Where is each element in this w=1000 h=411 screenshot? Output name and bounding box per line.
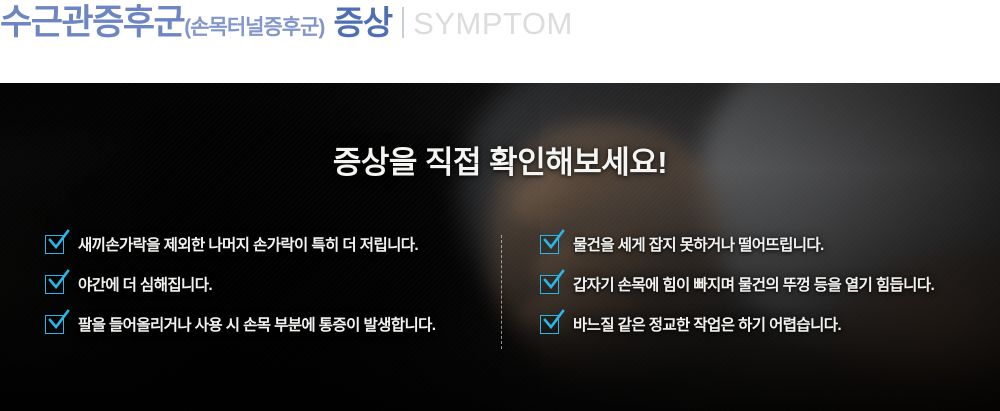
title-sub-text: 증상 [333,4,392,41]
list-item-label: 야간에 더 심해집니다. [78,273,212,295]
list-item-label: 팔을 들어올리거나 사용 시 손목 부분에 통증이 발생합니다. [78,313,436,335]
title-english-text: SYMPTOM [413,6,573,41]
list-item: 바느질 같은 정교한 작업은 하기 어렵습니다. [540,311,995,337]
list-item: 팔을 들어올리거나 사용 시 손목 부분에 통증이 발생합니다. [45,311,495,337]
page-title: 수근관증후군(손목터널증후군)증상SYMPTOM [0,1,573,52]
list-item: 야간에 더 심해집니다. [45,271,495,297]
list-item: 물건을 세게 잡지 못하거나 떨어뜨립니다. [540,231,995,257]
checkbox-checked-icon [540,235,559,254]
symptom-section: 수근관증후군(손목터널증후군)증상SYMPTOM 증상을 직접 확인해보세요! [0,0,1000,411]
symptom-checklists: 새끼손가락을 제외한 나머지 손가락이 특히 더 저립니다. 야간에 더 심해집… [0,231,1000,351]
list-item: 갑자기 손목에 힘이 빠지며 물건의 뚜껑 등을 열기 힘듭니다. [540,271,995,297]
symptom-list-right: 물건을 세게 잡지 못하거나 떨어뜨립니다. 갑자기 손목에 힘이 빠지며 물건… [540,231,995,337]
checkbox-checked-icon [540,315,559,334]
title-paren-text: (손목터널증후군) [184,16,324,39]
list-item-label: 물건을 세게 잡지 못하거나 떨어뜨립니다. [573,233,824,255]
checkbox-checked-icon [45,235,64,254]
symptom-list-left: 새끼손가락을 제외한 나머지 손가락이 특히 더 저립니다. 야간에 더 심해집… [45,231,495,337]
list-item-label: 갑자기 손목에 힘이 빠지며 물건의 뚜껑 등을 열기 힘듭니다. [573,273,934,295]
section-header: 수근관증후군(손목터널증후군)증상SYMPTOM [0,0,1000,83]
checkbox-checked-icon [540,275,559,294]
checkbox-checked-icon [45,315,64,334]
banner-headline: 증상을 직접 확인해보세요! [0,137,1000,182]
checkbox-checked-icon [45,275,64,294]
symptom-banner: 증상을 직접 확인해보세요! 새끼손가락을 제외한 나머지 손가락이 특히 더 … [0,83,1000,411]
list-item-label: 새끼손가락을 제외한 나머지 손가락이 특히 더 저립니다. [78,233,418,255]
column-divider [501,235,502,349]
title-main-text: 수근관증후군 [0,3,184,42]
list-item-label: 바느질 같은 정교한 작업은 하기 어렵습니다. [573,313,841,335]
title-separator [402,7,404,38]
list-item: 새끼손가락을 제외한 나머지 손가락이 특히 더 저립니다. [45,231,495,257]
